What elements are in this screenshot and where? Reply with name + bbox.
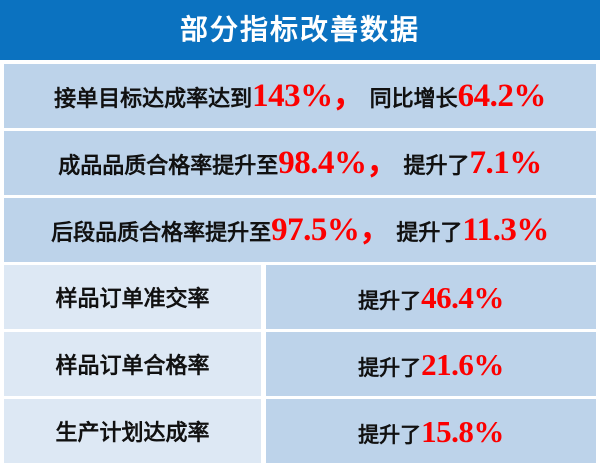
metric-value-prefix: 提升了 [358,291,421,312]
metric-separator: ， [359,214,396,247]
metric-text-middle: 提升了 [404,156,470,178]
metric-value-cell: 提升了46.4% [266,265,596,329]
table-row: 后段品质合格率提升至97.5%，提升了11.3% [4,198,596,262]
metric-label: 生产计划达成率 [55,415,209,447]
table-row: 生产计划达成率 提升了15.8% [4,399,596,463]
metric-separator: ， [333,80,370,113]
metric-sentence: 后段品质合格率提升至97.5%，提升了11.3% [51,214,549,247]
metric-value-secondary: 11.3% [462,214,548,247]
metric-sentence: 成品品质合格率提升至98.4%，提升了7.1% [58,147,542,180]
metric-label-cell: 样品订单准交率 [4,265,261,329]
metrics-improvement-poster: 部分指标改善数据 接单目标达成率达到143%，同比增长64.2% 成品品质合格率… [0,0,600,452]
metric-value-secondary: 7.1% [470,147,542,180]
metric-value: 15.8% [421,416,504,447]
page-title: 部分指标改善数据 [180,16,420,44]
metric-sentence: 提升了21.6% [358,349,504,380]
metric-label: 样品订单合格率 [55,348,209,380]
metric-value-secondary: 64.2% [458,80,546,113]
metric-text-middle: 同比增长 [370,89,458,111]
metrics-table: 接单目标达成率达到143%，同比增长64.2% 成品品质合格率提升至98.4%，… [0,60,600,452]
table-row: 样品订单准交率 提升了46.4% [4,265,596,329]
metric-label: 样品订单准交率 [55,281,209,313]
metric-value: 21.6% [421,349,504,380]
metric-value-primary: 143% [252,80,333,113]
metric-value: 46.4% [421,282,504,313]
metric-value-primary: 98.4% [278,147,366,180]
metric-sentence: 提升了46.4% [358,282,504,313]
metric-value-cell: 提升了15.8% [266,399,596,463]
metric-value-prefix: 提升了 [358,425,421,446]
table-row: 样品订单合格率 提升了21.6% [4,332,596,396]
metric-label-cell: 样品订单合格率 [4,332,261,396]
metric-text-before: 接单目标达成率达到 [54,89,252,111]
table-row: 接单目标达成率达到143%，同比增长64.2% [4,64,596,128]
metric-text-before: 成品品质合格率提升至 [58,156,278,178]
metric-value-prefix: 提升了 [358,358,421,379]
metric-sentence: 提升了15.8% [358,416,504,447]
metric-sentence: 接单目标达成率达到143%，同比增长64.2% [54,80,546,113]
metric-value-cell: 提升了21.6% [266,332,596,396]
table-row: 成品品质合格率提升至98.4%，提升了7.1% [4,131,596,195]
poster-header: 部分指标改善数据 [0,0,600,60]
metric-label-cell: 生产计划达成率 [4,399,261,463]
metric-value-primary: 97.5% [271,214,359,247]
metric-text-middle: 提升了 [396,223,462,245]
metric-text-before: 后段品质合格率提升至 [51,223,271,245]
metric-separator: ， [367,147,404,180]
